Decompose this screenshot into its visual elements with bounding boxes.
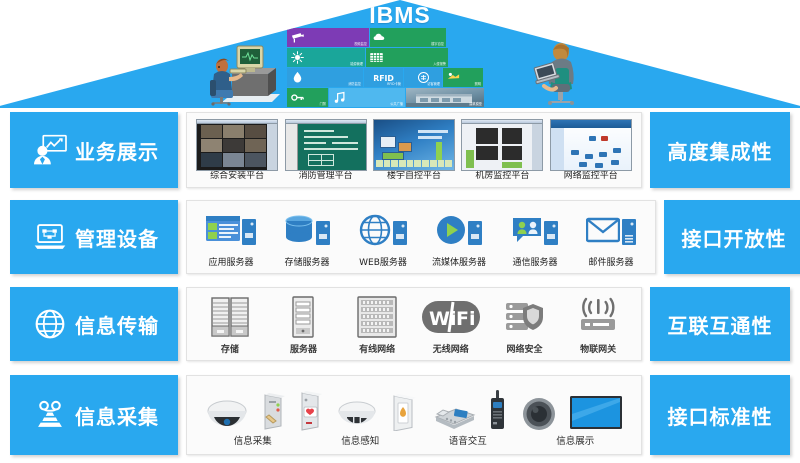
sidebar-item-information-collection[interactable]: 信息采集 xyxy=(10,375,178,455)
network-item-iot-gateway[interactable]: 物联网关 xyxy=(563,294,633,355)
tile-fire-monitoring[interactable]: 消防监控 xyxy=(287,68,363,87)
walkie-talkie-icon[interactable] xyxy=(487,389,509,431)
tile-energy-management[interactable]: 能源管理 xyxy=(287,48,365,67)
management-devices-panel: 应用服务器 存储服务器 xyxy=(186,200,656,274)
tile-label: 公共广播 xyxy=(390,103,403,106)
server-caption: 流媒体服务器 xyxy=(432,255,486,268)
database-cylinder-icon xyxy=(284,207,330,253)
feature-badge-open-interface[interactable]: 接口开放性 xyxy=(664,200,800,274)
laptop-network-icon xyxy=(33,221,67,253)
tile-label: 照明 xyxy=(475,83,481,86)
fire-cad-screenshot xyxy=(285,119,367,171)
network-caption: 有线网络 xyxy=(359,342,395,355)
tile-visitor-management[interactable]: 访客管理 xyxy=(404,68,442,87)
device-caption: 语音交互 xyxy=(449,433,487,447)
svg-text:Fi: Fi xyxy=(456,308,476,330)
feature-label: 接口标准性 xyxy=(668,401,773,430)
tile-building-model[interactable]: 建筑模型 xyxy=(406,88,484,107)
sidebar-item-business-display[interactable]: 业务展示 xyxy=(10,112,178,188)
feature-label: 高度集成性 xyxy=(668,136,773,165)
roof-banner: IBMS xyxy=(0,0,800,108)
tile-lighting[interactable]: 照明 xyxy=(443,68,483,87)
server-shield-icon xyxy=(504,294,544,340)
tile-label: 视频监控 xyxy=(354,43,367,46)
tile-label: 建筑模型 xyxy=(469,103,482,106)
network-topology-screenshot xyxy=(550,119,632,171)
lighting-icon xyxy=(446,70,461,85)
tile-label: 消防监控 xyxy=(348,83,361,86)
network-caption: 服务器 xyxy=(290,342,317,355)
data-center-monitor-screenshot xyxy=(461,119,543,171)
server-item-communication[interactable]: 通信服务器 xyxy=(497,207,573,268)
feature-label: 接口开放性 xyxy=(682,223,787,252)
app-caption: 综合安装平台 xyxy=(210,172,264,182)
envelope-icon xyxy=(586,207,636,253)
tile-intrusion-alarm[interactable]: 入侵报警 xyxy=(366,48,448,67)
app-card-data-center-monitoring[interactable]: 机房监控平台 xyxy=(460,119,544,182)
app-card-fire-management[interactable]: 消防管理平台 xyxy=(284,119,368,182)
chat-people-icon xyxy=(512,207,558,253)
business-display-panel: 综合安装平台 消防 xyxy=(186,112,642,188)
application-window-icon xyxy=(206,207,256,253)
desk-phone-icon[interactable] xyxy=(430,399,476,431)
tile-rfid[interactable]: RFID RFID卡管 xyxy=(364,68,403,87)
server-item-mail[interactable]: 邮件服务器 xyxy=(573,207,649,268)
device-group: 信息采集 信息感知 语音交互 信息展示 xyxy=(193,379,635,451)
switch-rack-icon xyxy=(357,294,397,340)
smoke-detector-icon[interactable] xyxy=(336,401,378,431)
sidebar-item-management-devices[interactable]: 管理设备 xyxy=(10,200,178,274)
cctv-matrix-screenshot xyxy=(196,119,278,171)
sidebar-label: 管理设备 xyxy=(75,223,159,252)
network-caption: 物联网关 xyxy=(580,342,616,355)
app-card-network-monitoring[interactable]: 网络监控平台 xyxy=(549,119,633,182)
play-button-icon xyxy=(436,207,482,253)
iot-gateway-icon xyxy=(576,294,620,340)
speaker-icon[interactable] xyxy=(521,397,557,431)
network-item-storage[interactable]: 存储 xyxy=(195,294,265,355)
row-management-devices: 管理设备 应用服务器 xyxy=(0,200,800,274)
device-caption: 信息感知 xyxy=(341,433,379,447)
globe-grid-icon xyxy=(33,308,67,340)
operator-at-desktop-illustration xyxy=(196,40,282,106)
ibms-architecture-diagram: IBMS xyxy=(0,0,800,463)
sidebar-label: 信息传输 xyxy=(75,310,159,339)
network-item-wired-network[interactable]: 有线网络 xyxy=(342,294,412,355)
device-caption: 信息展示 xyxy=(556,433,594,447)
network-item-server[interactable]: 服务器 xyxy=(268,294,338,355)
row-information-transmission: 信息传输 存储 xyxy=(0,287,800,361)
device-caption: 信息采集 xyxy=(234,433,272,447)
server-item-application[interactable]: 应用服务器 xyxy=(193,207,269,268)
app-caption: 楼宇自控平台 xyxy=(387,172,441,182)
server-caption: 应用服务器 xyxy=(208,255,253,268)
server-item-web[interactable]: WEB服务器 xyxy=(345,207,421,268)
app-caption: 网络监控平台 xyxy=(564,172,618,182)
network-caption: 网络安全 xyxy=(506,342,542,355)
display-screen-icon[interactable] xyxy=(569,395,623,431)
tile-building-automation[interactable]: 楼宇自控 xyxy=(370,28,446,47)
building-automation-screenshot xyxy=(373,119,455,171)
sensor-antenna-icon xyxy=(33,399,67,431)
app-card-integrated-installation[interactable]: 综合安装平台 xyxy=(195,119,279,182)
server-caption: 邮件服务器 xyxy=(588,255,633,268)
server-caption: 通信服务器 xyxy=(512,255,557,268)
information-transmission-panel: 存储 服务器 xyxy=(186,287,642,361)
tile-label: 门禁 xyxy=(320,103,326,106)
operator-with-laptop-illustration xyxy=(530,38,590,106)
grid-keypad-icon xyxy=(369,50,384,65)
tile-label: 能源管理 xyxy=(350,63,363,66)
server-caption: 存储服务器 xyxy=(284,255,329,268)
gear-snowflake-icon xyxy=(290,50,305,65)
dome-camera-icon[interactable] xyxy=(205,399,249,431)
tile-label: 入侵报警 xyxy=(433,63,446,66)
server-item-storage[interactable]: 存储服务器 xyxy=(269,207,345,268)
thermostat-panel-icon[interactable] xyxy=(390,393,418,431)
server-tower-icon xyxy=(292,294,314,340)
network-caption: 存储 xyxy=(221,342,239,355)
network-caption: 无线网络 xyxy=(433,342,469,355)
tile-label: 楼宇自控 xyxy=(431,43,444,46)
tile-video-surveillance[interactable]: 视频监控 xyxy=(287,28,369,47)
row-business-display: 业务展示 综合安装平台 xyxy=(0,112,800,188)
row-information-collection: 信息采集 xyxy=(0,375,800,455)
network-item-network-security[interactable]: 网络安全 xyxy=(489,294,559,355)
feature-badge-high-integration[interactable]: 高度集成性 xyxy=(650,112,790,188)
sidebar-label: 业务展示 xyxy=(75,136,159,165)
cctv-camera-icon xyxy=(290,30,305,45)
app-caption: 消防管理平台 xyxy=(299,172,353,182)
device-caption-row: 信息采集 信息感知 语音交互 信息展示 xyxy=(193,431,635,447)
feature-badge-interconnectivity[interactable]: 互联互通性 xyxy=(650,287,790,361)
information-collection-panel: 信息采集 信息感知 语音交互 信息展示 xyxy=(186,375,642,455)
sidebar-item-information-transmission[interactable]: 信息传输 xyxy=(10,287,178,361)
water-drop-icon xyxy=(290,70,305,85)
device-icon-row xyxy=(193,383,635,431)
feature-label: 互联互通性 xyxy=(668,310,773,339)
server-caption: WEB服务器 xyxy=(359,255,407,268)
network-item-wireless-network[interactable]: Wi Fi 无线网络 xyxy=(416,294,486,355)
tile-access-control[interactable]: 门禁 xyxy=(287,88,328,107)
roof-tile-grid: 视频监控 楼宇自控 能源管理 入侵报警 消防监控 RFID RFID卡管 xyxy=(287,28,524,106)
wifi-icon: Wi Fi xyxy=(422,294,480,340)
feature-badge-standard-interface[interactable]: 接口标准性 xyxy=(650,375,790,455)
music-note-icon xyxy=(332,90,347,105)
server-item-streaming[interactable]: 流媒体服务器 xyxy=(421,207,497,268)
app-card-building-automation[interactable]: 楼宇自控平台 xyxy=(372,119,456,182)
tile-label: 访客管理 xyxy=(427,83,440,86)
presentation-chart-icon xyxy=(33,134,67,166)
storage-array-icon xyxy=(211,294,249,340)
emergency-call-button-icon[interactable] xyxy=(298,391,324,431)
sidebar-label: 信息采集 xyxy=(75,401,159,430)
tile-label: RFID卡管 xyxy=(387,83,401,86)
app-caption: 机房监控平台 xyxy=(475,172,529,182)
cloud-bird-icon xyxy=(373,30,388,45)
key-icon xyxy=(290,90,305,105)
tile-public-address[interactable]: 公共广播 xyxy=(329,88,405,107)
globe-icon xyxy=(359,207,407,253)
card-reader-icon[interactable] xyxy=(261,393,287,431)
page-title: IBMS xyxy=(0,2,800,29)
